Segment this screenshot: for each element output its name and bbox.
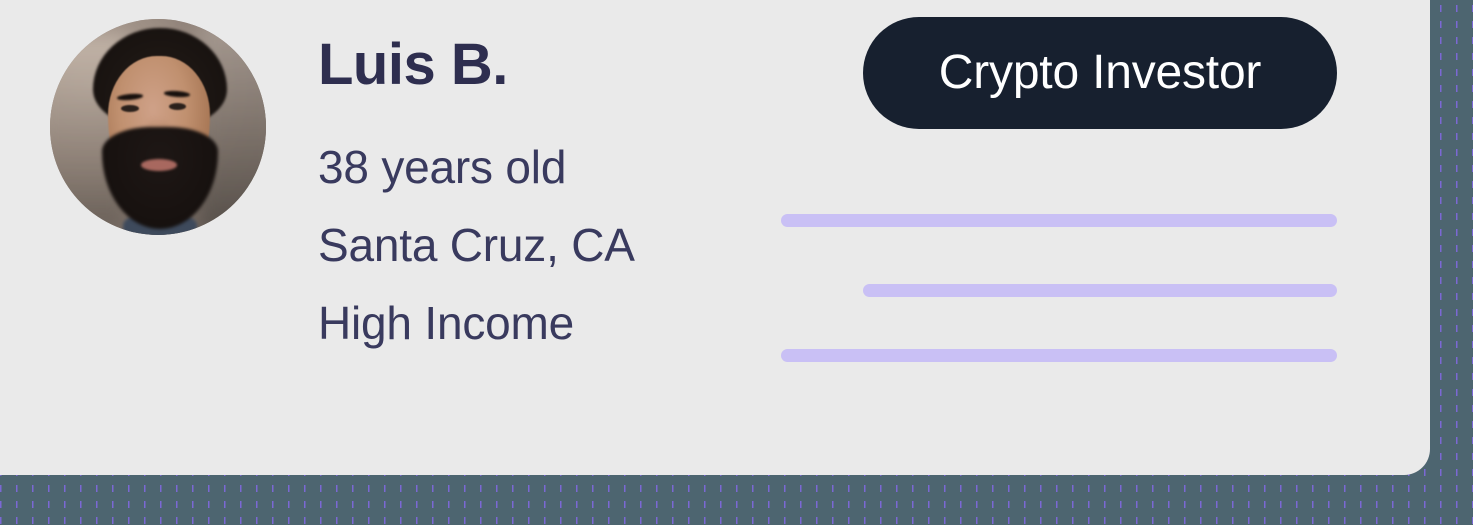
profile-card-content: Luis B. 38 years old Santa Cruz, CA High… <box>0 0 1430 475</box>
profile-attribute-location: Santa Cruz, CA <box>318 222 635 268</box>
profile-attribute-age: 38 years old <box>318 144 635 190</box>
profile-card: Luis B. 38 years old Santa Cruz, CA High… <box>0 0 1430 475</box>
placeholder-bar-2 <box>863 284 1337 297</box>
page-background: Luis B. 38 years old Santa Cruz, CA High… <box>0 0 1473 525</box>
profile-attribute-income: High Income <box>318 300 635 346</box>
placeholder-bar-1 <box>781 214 1337 227</box>
placeholder-bar-3 <box>781 349 1337 362</box>
profile-info: Luis B. 38 years old Santa Cruz, CA High… <box>318 36 635 346</box>
profile-attribute-list: 38 years old Santa Cruz, CA High Income <box>318 144 635 346</box>
avatar <box>50 19 266 235</box>
profile-name: Luis B. <box>318 36 635 94</box>
status-badge-label: Crypto Investor <box>939 49 1261 97</box>
status-badge[interactable]: Crypto Investor <box>863 17 1337 129</box>
